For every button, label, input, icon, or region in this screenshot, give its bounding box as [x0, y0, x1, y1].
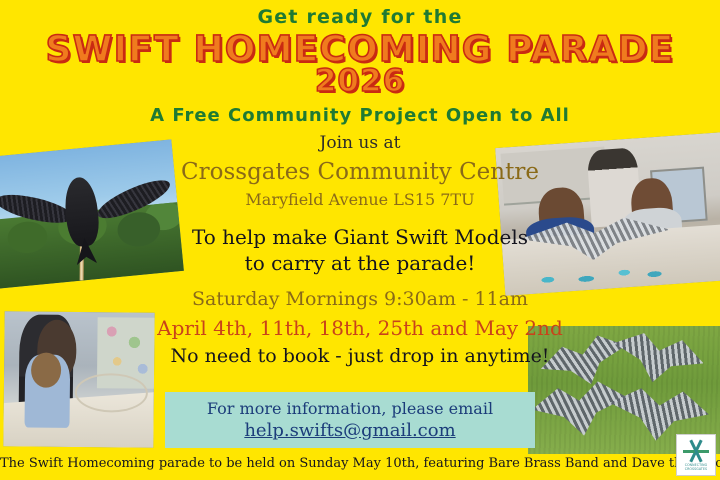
- organisation-logo: CONNECTING CROSSGATES: [676, 434, 716, 476]
- contact-email-link[interactable]: help.swifts@gmail.com: [244, 420, 455, 441]
- free-project-text: A Free Community Project Open to All: [0, 105, 720, 126]
- venue-address: Maryfield Avenue LS15 7TU: [0, 190, 720, 209]
- kicker-text: Get ready for the: [0, 6, 720, 28]
- poster-canvas: Get ready for the SWIFT HOMECOMING PARAD…: [0, 0, 720, 480]
- session-dates: April 4th, 11th, 18th, 25th and May 2nd: [0, 316, 720, 340]
- contact-label: For more information, please email: [207, 399, 493, 418]
- x-mark-icon: [683, 439, 709, 463]
- wing-frame: [75, 373, 148, 413]
- purpose-line-two: to carry at the parade!: [0, 251, 720, 275]
- purpose-line-one: To help make Giant Swift Models: [0, 225, 720, 249]
- session-times: Saturday Mornings 9:30am - 11am: [0, 288, 720, 310]
- contact-panel: For more information, please email help.…: [165, 392, 535, 448]
- footer-note: The Swift Homecoming parade to be held o…: [0, 456, 720, 471]
- no-booking-note: No need to book - just drop in anytime!: [0, 345, 720, 367]
- venue-name: Crossgates Community Centre: [0, 159, 720, 185]
- logo-caption-line-2: CROSSGATES: [685, 467, 707, 471]
- logo-bar: [683, 450, 709, 453]
- join-us-label: Join us at: [0, 133, 720, 153]
- event-year: 2026: [0, 63, 720, 99]
